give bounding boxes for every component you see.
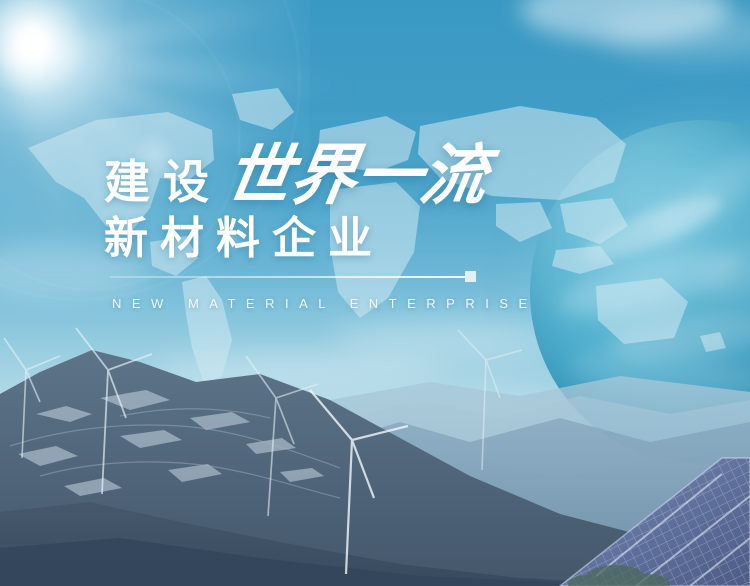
headline-prefix: 建设 <box>104 159 222 208</box>
headline-line-2: 新材料企业 <box>104 216 524 262</box>
headline-block: 建设 世界一流 新材料企业 <box>104 134 524 262</box>
landscape-scene <box>0 326 750 586</box>
divider-end-square <box>465 271 476 282</box>
headline-line-1: 建设 世界一流 <box>104 134 524 208</box>
headline-emphasis: 世界一流 <box>221 142 491 208</box>
subtitle-english: NEW MATERIAL ENTERPRISE <box>112 296 538 311</box>
divider-line <box>110 276 465 278</box>
hero-banner: 建设 世界一流 新材料企业 NEW MATERIAL ENTERPRISE <box>0 0 750 586</box>
